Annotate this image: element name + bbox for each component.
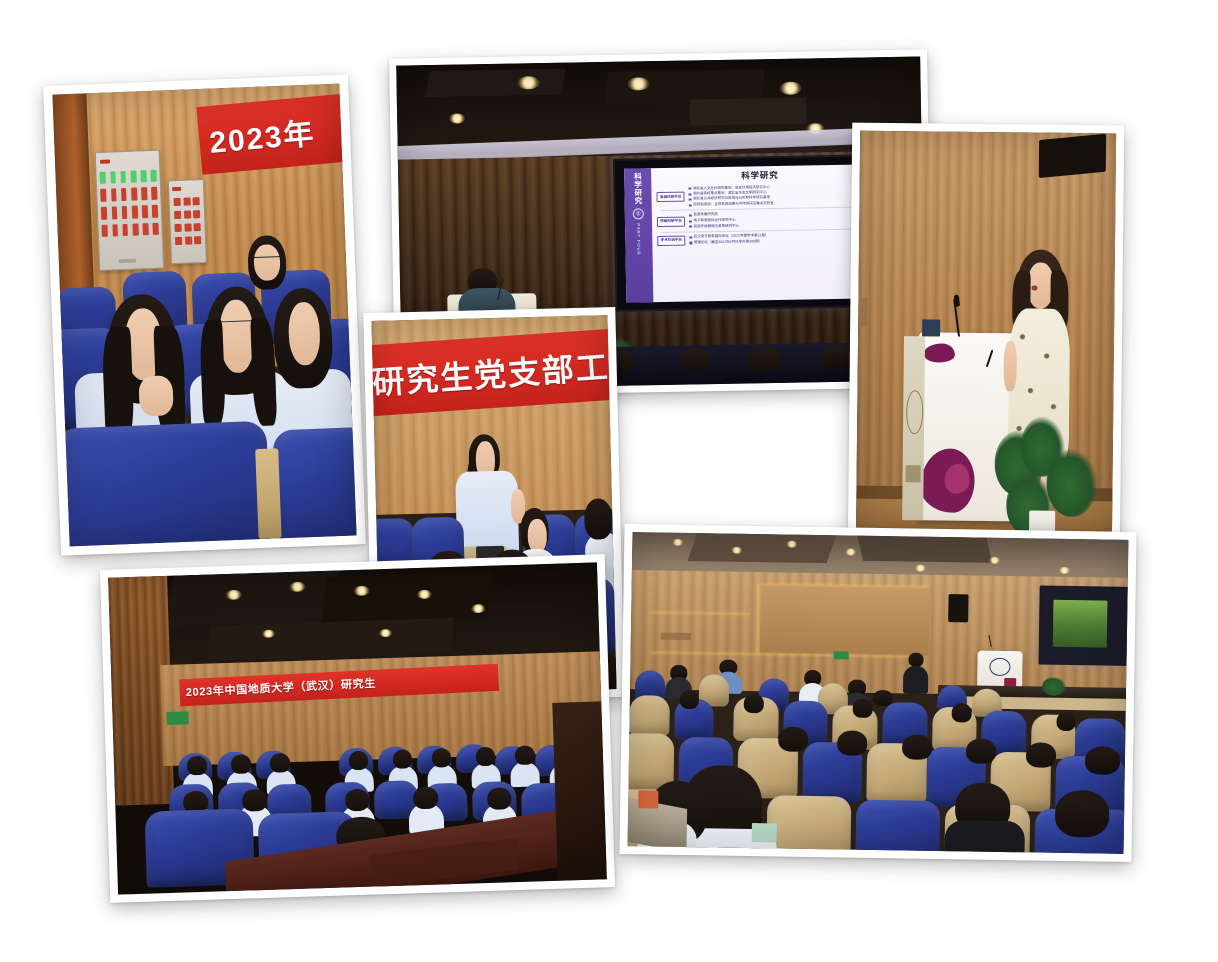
photo-frame-speaker-podium[interactable]	[848, 123, 1125, 560]
wall-control-panel-large	[95, 149, 165, 271]
photo-speaker-podium	[856, 131, 1116, 552]
slide-chip-2: 学术交流平台	[657, 235, 686, 245]
banner-text: 研究生党支部工	[371, 341, 610, 403]
projection-screen	[1038, 586, 1128, 667]
presentation-slide: 科学研究 ② PART FOUR 科学研究 省级科研平台 湖北省人文社科研究基地…	[624, 164, 870, 302]
slide-line: 资源环境管理与政策研究中心	[694, 223, 740, 229]
banner-text: 2023年	[208, 108, 317, 161]
slide-chip-0: 省级科研平台	[656, 192, 685, 202]
slide-rail-badge: ②	[633, 208, 644, 219]
slide-title: 科学研究	[656, 167, 864, 183]
ceiling-speaker	[1039, 134, 1106, 178]
photo-auditorium-audience	[628, 532, 1129, 854]
photo-students-front-row: 2023年	[52, 84, 356, 547]
photo-frame-auditorium-audience[interactable]	[619, 524, 1136, 862]
photo-collage: 2023年	[0, 0, 1218, 962]
slide-rail-title: 科学研究	[634, 172, 642, 205]
slide-line: 管理论坛（截至2022年4月已举办第305期）	[694, 239, 762, 246]
standing-student-shirt	[455, 471, 518, 555]
photo-frame-students-front-row[interactable]: 2023年	[43, 74, 366, 555]
wall-control-panel-small	[168, 179, 208, 264]
banner-2023: 2023年	[197, 93, 350, 174]
projection-screen: 科学研究 ② PART FOUR 科学研究 省级科研平台 湖北省人文社科研究基地…	[613, 154, 882, 312]
photo-frame-wide-hall-banner[interactable]: 2023年中国地质大学（武汉）研究生	[100, 554, 615, 903]
slide-rail-subtitle: PART FOUR	[636, 223, 642, 255]
slide-chip-1: 校级科研平台	[657, 216, 686, 226]
slide-line: 自然资源部：全球资源战略与可持续研究重点实验室	[693, 201, 774, 208]
photo-wide-hall-banner: 2023年中国地质大学（武汉）研究生	[108, 562, 607, 894]
banner-text: 2023年中国地质大学（武汉）研究生	[186, 676, 377, 701]
wall-speaker	[949, 594, 969, 623]
